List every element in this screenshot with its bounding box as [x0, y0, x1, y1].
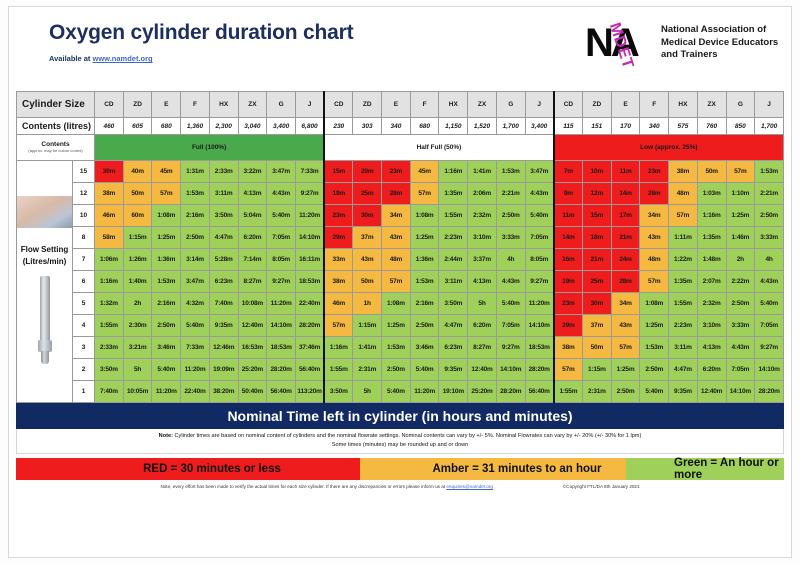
- duration-cell: 4:13m: [238, 183, 267, 205]
- contents-value-2-6: 850: [726, 118, 755, 135]
- header-size-2-4: HX: [669, 92, 698, 118]
- duration-cell: 2:33m: [95, 337, 124, 359]
- duration-cell: 1:31m: [181, 161, 210, 183]
- row-fill-band: Contents(approx. may be colour coded)Ful…: [17, 135, 784, 161]
- duration-cell: 8:05m: [267, 249, 296, 271]
- duration-cell: 1:25m: [410, 227, 439, 249]
- note-line1-text: Cylinder times are based on nominal cont…: [173, 433, 641, 439]
- header-size-1-3: F: [410, 92, 439, 118]
- duration-cell: 14:10m: [726, 381, 755, 403]
- duration-cell: 5:40m: [382, 381, 411, 403]
- duration-cell: 7:05m: [525, 227, 554, 249]
- table-row: 1046m60m1:08m2:16m3:50m5:04m5:40m11:20m2…: [17, 205, 784, 227]
- duration-cell: 1:22m: [669, 249, 698, 271]
- duration-cell: 11:20m: [525, 293, 554, 315]
- duration-cell: 1h: [353, 293, 382, 315]
- duration-cell: 21m: [582, 249, 611, 271]
- duration-cell: 1:25m: [152, 227, 181, 249]
- duration-cell: 1:15m: [582, 359, 611, 381]
- duration-cell: 1:36m: [152, 249, 181, 271]
- duration-cell: 16:53m: [238, 337, 267, 359]
- duration-cell: 3:11m: [439, 271, 468, 293]
- chart-page: Oxygen cylinder duration chart Available…: [0, 0, 800, 565]
- duration-cell: 3:50m: [209, 205, 238, 227]
- duration-cell: 4:43m: [496, 271, 525, 293]
- contents-value-0-6: 3,400: [267, 118, 296, 135]
- flow-setting-value: 6: [73, 271, 95, 293]
- duration-cell: 37m: [582, 315, 611, 337]
- duration-cell: 56:40m: [295, 359, 324, 381]
- header-size-1-2: E: [382, 92, 411, 118]
- duration-cell: 3:50m: [324, 381, 353, 403]
- duration-cell: 25m: [582, 271, 611, 293]
- flow-setting-value: 15: [73, 161, 95, 183]
- label-contents-litres: Contents (litres): [17, 118, 95, 135]
- table-row: 858m1:15m1:25m2:50m4:47m6:20m7:05m14:10m…: [17, 227, 784, 249]
- duration-cell: 1:06m: [95, 249, 124, 271]
- duration-cell: 57m: [324, 315, 353, 337]
- duration-cell: 57m: [554, 359, 583, 381]
- duration-cell: 43m: [611, 315, 640, 337]
- duration-cell: 4h: [496, 249, 525, 271]
- accuracy-note-line1: Note: Cylinder times are based on nomina…: [23, 432, 777, 441]
- legend-red-label: RED = 30 minutes or less: [64, 458, 360, 480]
- duration-cell: 12:46m: [209, 337, 238, 359]
- duration-cell: 4:43m: [267, 183, 296, 205]
- duration-cell: 14:10m: [525, 315, 554, 337]
- duration-cell: 5h: [123, 359, 152, 381]
- duration-cell: 50m: [697, 161, 726, 183]
- contents-value-0-7: 6,800: [295, 118, 324, 135]
- duration-cell: 23m: [640, 161, 669, 183]
- contents-value-2-3: 340: [640, 118, 669, 135]
- header-size-1-1: ZD: [353, 92, 382, 118]
- logo-org-name: National Association of Medical Device E…: [661, 24, 781, 62]
- duration-cell: 6:20m: [238, 227, 267, 249]
- duration-cell: 14:10m: [496, 359, 525, 381]
- header-size-0-4: HX: [209, 92, 238, 118]
- duration-cell: 28:20m: [525, 359, 554, 381]
- duration-cell: 4:47m: [439, 315, 468, 337]
- duration-cell: 56:40m: [267, 381, 296, 403]
- table-row: 17:40m10:05m11:20m22:40m38:20m50:40m56:4…: [17, 381, 784, 403]
- contents-value-0-4: 2,300: [209, 118, 238, 135]
- duration-cell: 28:20m: [755, 381, 784, 403]
- duration-cell: 18m: [582, 227, 611, 249]
- duration-cell: 9:27m: [755, 337, 784, 359]
- duration-cell: 4:32m: [181, 293, 210, 315]
- duration-cell: 7:05m: [726, 359, 755, 381]
- duration-cell: 6:20m: [697, 359, 726, 381]
- duration-cell: 9:35m: [209, 315, 238, 337]
- duration-cell: 5:40m: [755, 293, 784, 315]
- duration-cell: 1:25m: [611, 359, 640, 381]
- header-size-1-4: HX: [439, 92, 468, 118]
- duration-cell: 14m: [554, 227, 583, 249]
- duration-cell: 1:16m: [697, 205, 726, 227]
- duration-cell: 1:10m: [726, 183, 755, 205]
- duration-cell: 4:47m: [669, 359, 698, 381]
- duration-cell: 25m: [353, 183, 382, 205]
- duration-cell: 43m: [353, 249, 382, 271]
- duration-cell: 2:50m: [181, 227, 210, 249]
- legend-red-swatch: [16, 458, 64, 480]
- row-cylinder-size: Cylinder SizeCDZDEFHXZXGJCDZDEFHXZXGJCDZ…: [17, 92, 784, 118]
- duration-cell: 5h: [353, 381, 382, 403]
- duration-cell: 28m: [640, 183, 669, 205]
- label-contents-sub: (approx. may be colour coded): [17, 149, 94, 153]
- duration-cell: 28m: [382, 183, 411, 205]
- duration-cell: 1:48m: [697, 249, 726, 271]
- duration-cell: 7:05m: [755, 315, 784, 337]
- legend-amber-swatch: [360, 458, 408, 480]
- duration-cell: 3:46m: [410, 337, 439, 359]
- flow-setting-value: 8: [73, 227, 95, 249]
- duration-cell: 1:08m: [152, 205, 181, 227]
- duration-cell: 2h: [123, 293, 152, 315]
- duration-cell: 56:40m: [525, 381, 554, 403]
- table-row: 23:50m5h5:40m11:20m19:09m25:20m28:20m56:…: [17, 359, 784, 381]
- flow-setting-sidebar: Flow Setting (Litres/min): [17, 161, 73, 403]
- header-size-0-0: CD: [95, 92, 124, 118]
- duration-cell: 2:30m: [123, 315, 152, 337]
- duration-cell: 1:35m: [669, 271, 698, 293]
- duration-cell: 15m: [582, 205, 611, 227]
- duration-cell: 29m: [554, 315, 583, 337]
- duration-cell: 12:40m: [238, 315, 267, 337]
- duration-cell: 14:10m: [267, 315, 296, 337]
- contents-value-2-5: 760: [697, 118, 726, 135]
- duration-cell: 38m: [324, 271, 353, 293]
- duration-cell: 33m: [324, 249, 353, 271]
- duration-cell: 3:47m: [181, 271, 210, 293]
- flow-setting-value: 12: [73, 183, 95, 205]
- duration-cell: 1:25m: [726, 205, 755, 227]
- duration-cell: 30m: [582, 293, 611, 315]
- duration-cell: 46m: [95, 205, 124, 227]
- label-flow-setting: Flow Setting (Litres/min): [21, 244, 69, 268]
- duration-cell: 2:22m: [726, 271, 755, 293]
- available-prefix: Available at: [49, 54, 93, 63]
- table-row: 51:32m2h2:16m4:32m7:40m10:08m11:20m22:40…: [17, 293, 784, 315]
- duration-cell: 50m: [582, 337, 611, 359]
- contents-value-1-0: 230: [324, 118, 353, 135]
- flow-setting-value: 10: [73, 205, 95, 227]
- duration-cell: 5:40m: [525, 205, 554, 227]
- band-label-2: Low (approx. 25%): [554, 135, 784, 161]
- duration-cell: 5:28m: [209, 249, 238, 271]
- duration-cell: 2:50m: [755, 205, 784, 227]
- duration-cell: 2:50m: [496, 205, 525, 227]
- header-size-2-6: G: [726, 92, 755, 118]
- duration-cell: 19:09m: [209, 359, 238, 381]
- duration-cell: 16m: [554, 249, 583, 271]
- duration-cell: 2:31m: [353, 359, 382, 381]
- duration-cell: 1:55m: [324, 359, 353, 381]
- duration-cell: 7:33m: [295, 161, 324, 183]
- duration-cell: 12:40m: [468, 359, 497, 381]
- header-size-1-0: CD: [324, 92, 353, 118]
- duration-cell: 43m: [382, 227, 411, 249]
- duration-cell: 17m: [611, 205, 640, 227]
- duration-cell: 1:41m: [353, 337, 382, 359]
- duration-cell: 7:05m: [267, 227, 296, 249]
- duration-cell: 1:26m: [123, 249, 152, 271]
- duration-cell: 2h: [726, 249, 755, 271]
- duration-cell: 3:33m: [496, 227, 525, 249]
- table-row: 61:16m1:40m1:53m3:47m6:23m8:27m9:27m18:5…: [17, 271, 784, 293]
- duration-cell: 23m: [554, 293, 583, 315]
- copyright-text: ©Copyright FTL/DA 8th January 2021: [563, 484, 640, 489]
- duration-cell: 2:21m: [755, 183, 784, 205]
- duration-cell: 3:10m: [468, 227, 497, 249]
- duration-cell: 4:43m: [525, 183, 554, 205]
- duration-cell: 1:53m: [181, 183, 210, 205]
- duration-cell: 1:16m: [95, 271, 124, 293]
- duration-cell: 8:27m: [238, 271, 267, 293]
- duration-cell: 12m: [582, 183, 611, 205]
- duration-cell: 37m: [353, 227, 382, 249]
- duration-cell: 1:03m: [697, 183, 726, 205]
- header-size-1-6: G: [496, 92, 525, 118]
- duration-cell: 46m: [324, 293, 353, 315]
- duration-cell: 113:20m: [295, 381, 324, 403]
- duration-cell: 1:53m: [410, 271, 439, 293]
- chart-header: Oxygen cylinder duration chart Available…: [9, 7, 791, 91]
- duration-cell: 57m: [410, 183, 439, 205]
- duration-cell: 5h: [468, 293, 497, 315]
- flow-setting-value: 5: [73, 293, 95, 315]
- note-bold-label: Note:: [159, 433, 173, 439]
- duration-cell: 3:50m: [95, 359, 124, 381]
- duration-cell: 2:07m: [697, 271, 726, 293]
- duration-cell: 11:20m: [152, 381, 181, 403]
- duration-cell: 5:04m: [238, 205, 267, 227]
- band-label-0: Full (100%): [95, 135, 325, 161]
- duration-cell: 11:20m: [267, 293, 296, 315]
- duration-cell: 1:55m: [669, 293, 698, 315]
- duration-cell: 1:16m: [324, 337, 353, 359]
- duration-cell: 1:08m: [382, 293, 411, 315]
- duration-cell: 9m: [554, 183, 583, 205]
- contents-value-0-0: 460: [95, 118, 124, 135]
- duration-cell: 5:40m: [410, 359, 439, 381]
- duration-cell: 1:35m: [439, 183, 468, 205]
- flow-setting-value: 7: [73, 249, 95, 271]
- duration-cell: 3:11m: [209, 183, 238, 205]
- duration-cell: 5:40m: [181, 315, 210, 337]
- accuracy-note: Note: Cylinder times are based on nomina…: [16, 429, 784, 454]
- duration-cell: 29m: [324, 227, 353, 249]
- duration-cell: 1:36m: [410, 249, 439, 271]
- duration-cell: 48m: [382, 249, 411, 271]
- duration-cell: 11:20m: [181, 359, 210, 381]
- duration-cell: 3:47m: [267, 161, 296, 183]
- duration-cell: 30m: [95, 161, 124, 183]
- duration-cell: 2:23m: [669, 315, 698, 337]
- duration-cell: 10:08m: [238, 293, 267, 315]
- table-row: Flow Setting (Litres/min)1530m40m45m1:31…: [17, 161, 784, 183]
- duration-cell: 23m: [324, 205, 353, 227]
- duration-cell: 3:46m: [152, 337, 181, 359]
- duration-cell: 43m: [640, 227, 669, 249]
- duration-cell: 24m: [611, 249, 640, 271]
- contents-value-2-7: 1,700: [755, 118, 784, 135]
- duration-cell: 3:47m: [525, 161, 554, 183]
- contents-value-2-4: 575: [669, 118, 698, 135]
- duration-cell: 19m: [324, 183, 353, 205]
- duration-cell: 28:20m: [496, 381, 525, 403]
- duration-cell: 50:40m: [238, 381, 267, 403]
- contents-value-1-3: 680: [410, 118, 439, 135]
- nominal-time-banner: Nominal Time left in cylinder (in hours …: [16, 403, 784, 429]
- header-size-0-7: J: [295, 92, 324, 118]
- header-size-2-0: CD: [554, 92, 583, 118]
- duration-cell: 2:32m: [468, 205, 497, 227]
- duration-cell: 48m: [669, 183, 698, 205]
- duration-cell: 1:55m: [95, 315, 124, 337]
- website-link[interactable]: www.namdet.org: [93, 54, 153, 63]
- duration-cell: 60m: [123, 205, 152, 227]
- duration-cell: 57m: [726, 161, 755, 183]
- duration-cell: 50m: [123, 183, 152, 205]
- duration-cell: 11m: [611, 161, 640, 183]
- duration-cell: 2:16m: [152, 293, 181, 315]
- duration-cell: 3:33m: [755, 227, 784, 249]
- duration-cell: 2:50m: [611, 381, 640, 403]
- header-size-2-7: J: [755, 92, 784, 118]
- header-size-1-5: ZX: [468, 92, 497, 118]
- duration-cell: 14:10m: [295, 227, 324, 249]
- duration-cell: 2:16m: [410, 293, 439, 315]
- duration-cell: 19:10m: [439, 381, 468, 403]
- duration-cell: 57m: [152, 183, 181, 205]
- accuracy-note-line2: Some times (minutes) may be rounded up a…: [23, 441, 777, 450]
- logo-mark: NA MDET: [585, 17, 655, 69]
- duration-cell: 8:27m: [468, 337, 497, 359]
- duration-cell: 9:35m: [439, 359, 468, 381]
- duration-cell: 9:27m: [525, 271, 554, 293]
- duration-cell: 37:46m: [295, 337, 324, 359]
- duration-cell: 11:20m: [295, 205, 324, 227]
- duration-cell: 21m: [611, 227, 640, 249]
- header-size-0-5: ZX: [238, 92, 267, 118]
- duration-cell: 57m: [382, 271, 411, 293]
- duration-cell: 2:32m: [697, 293, 726, 315]
- duration-cell: 28:20m: [295, 315, 324, 337]
- duration-cell: 2:31m: [582, 381, 611, 403]
- duration-cell: 14m: [611, 183, 640, 205]
- duration-cell: 38:20m: [209, 381, 238, 403]
- legend-green-label: Green = An hour or more: [674, 458, 784, 480]
- header-size-1-7: J: [525, 92, 554, 118]
- duration-cell: 1:46m: [726, 227, 755, 249]
- duration-cell: 1:15m: [123, 227, 152, 249]
- duration-cell: 40m: [123, 161, 152, 183]
- duration-cell: 30m: [353, 205, 382, 227]
- flow-setting-value: 2: [73, 359, 95, 381]
- header-size-2-1: ZD: [582, 92, 611, 118]
- duration-cell: 45m: [152, 161, 181, 183]
- duration-cell: 45m: [410, 161, 439, 183]
- duration-cell: 1:25m: [382, 315, 411, 337]
- duration-cell: 7:40m: [209, 293, 238, 315]
- patient-photo: [17, 196, 72, 228]
- duration-cell: 25:20m: [468, 381, 497, 403]
- duration-cell: 1:41m: [468, 161, 497, 183]
- duration-cell: 19m: [554, 271, 583, 293]
- header-size-0-1: ZD: [123, 92, 152, 118]
- duration-cell: 2:21m: [496, 183, 525, 205]
- duration-cell: 1:08m: [640, 293, 669, 315]
- duration-cell: 18:53m: [525, 337, 554, 359]
- duration-cell: 9:27m: [267, 271, 296, 293]
- contact-email-link[interactable]: enquiries@namdet.org: [446, 484, 493, 489]
- duration-cell: 25:20m: [238, 359, 267, 381]
- duration-cell: 50m: [353, 271, 382, 293]
- duration-cell: 7:14m: [238, 249, 267, 271]
- duration-cell: 2:44m: [439, 249, 468, 271]
- duration-cell: 18:53m: [295, 271, 324, 293]
- duration-cell: 7:05m: [496, 315, 525, 337]
- duration-cell: 1:55m: [439, 205, 468, 227]
- duration-cell: 4h: [755, 249, 784, 271]
- duration-cell: 5:40m: [496, 293, 525, 315]
- duration-cell: 2:16m: [181, 205, 210, 227]
- header-size-0-6: G: [267, 92, 296, 118]
- flow-setting-value: 4: [73, 315, 95, 337]
- duration-cell: 12:40m: [697, 381, 726, 403]
- duration-cell: 6:23m: [439, 337, 468, 359]
- row-contents-litres: Contents (litres)4606056801,3602,3003,04…: [17, 118, 784, 135]
- duration-cell: 38m: [554, 337, 583, 359]
- label-contents: Contents(approx. may be colour coded): [17, 135, 95, 161]
- contents-value-2-2: 170: [611, 118, 640, 135]
- duration-cell: 58m: [95, 227, 124, 249]
- table-row: 41:55m2:30m2:50m5:40m9:35m12:40m14:10m28…: [17, 315, 784, 337]
- duration-cell: 57m: [669, 205, 698, 227]
- duration-cell: 5:40m: [267, 205, 296, 227]
- duration-cell: 5:40m: [152, 359, 181, 381]
- header-size-2-2: E: [611, 92, 640, 118]
- duration-cell: 22:40m: [295, 293, 324, 315]
- duration-cell: 9:27m: [496, 337, 525, 359]
- duration-cell: 4:43m: [726, 337, 755, 359]
- contents-value-1-6: 1,700: [496, 118, 525, 135]
- duration-cell: 1:53m: [640, 337, 669, 359]
- duration-cell: 3:50m: [439, 293, 468, 315]
- duration-cell: 1:11m: [669, 227, 698, 249]
- color-legend: RED = 30 minutes or less Amber = 31 minu…: [16, 458, 784, 480]
- duration-cell: 22:40m: [181, 381, 210, 403]
- duration-cell: 1:08m: [410, 205, 439, 227]
- duration-cell: 16:11m: [295, 249, 324, 271]
- duration-cell: 1:53m: [152, 271, 181, 293]
- duration-cell: 1:16m: [439, 161, 468, 183]
- duration-cell: 34m: [611, 293, 640, 315]
- duration-cell: 11m: [554, 205, 583, 227]
- duration-cell: 1:25m: [640, 315, 669, 337]
- duration-cell: 9:27m: [295, 183, 324, 205]
- band-label-1: Half Full (50%): [324, 135, 554, 161]
- duration-cell: 1:32m: [95, 293, 124, 315]
- disclaimer-text: Note, every effort has been made to veri…: [160, 484, 492, 489]
- duration-cell: 3:22m: [238, 161, 267, 183]
- duration-cell: 4:47m: [209, 227, 238, 249]
- contents-value-0-3: 1,360: [181, 118, 210, 135]
- duration-cell: 28:20m: [267, 359, 296, 381]
- duration-cell: 1:53m: [496, 161, 525, 183]
